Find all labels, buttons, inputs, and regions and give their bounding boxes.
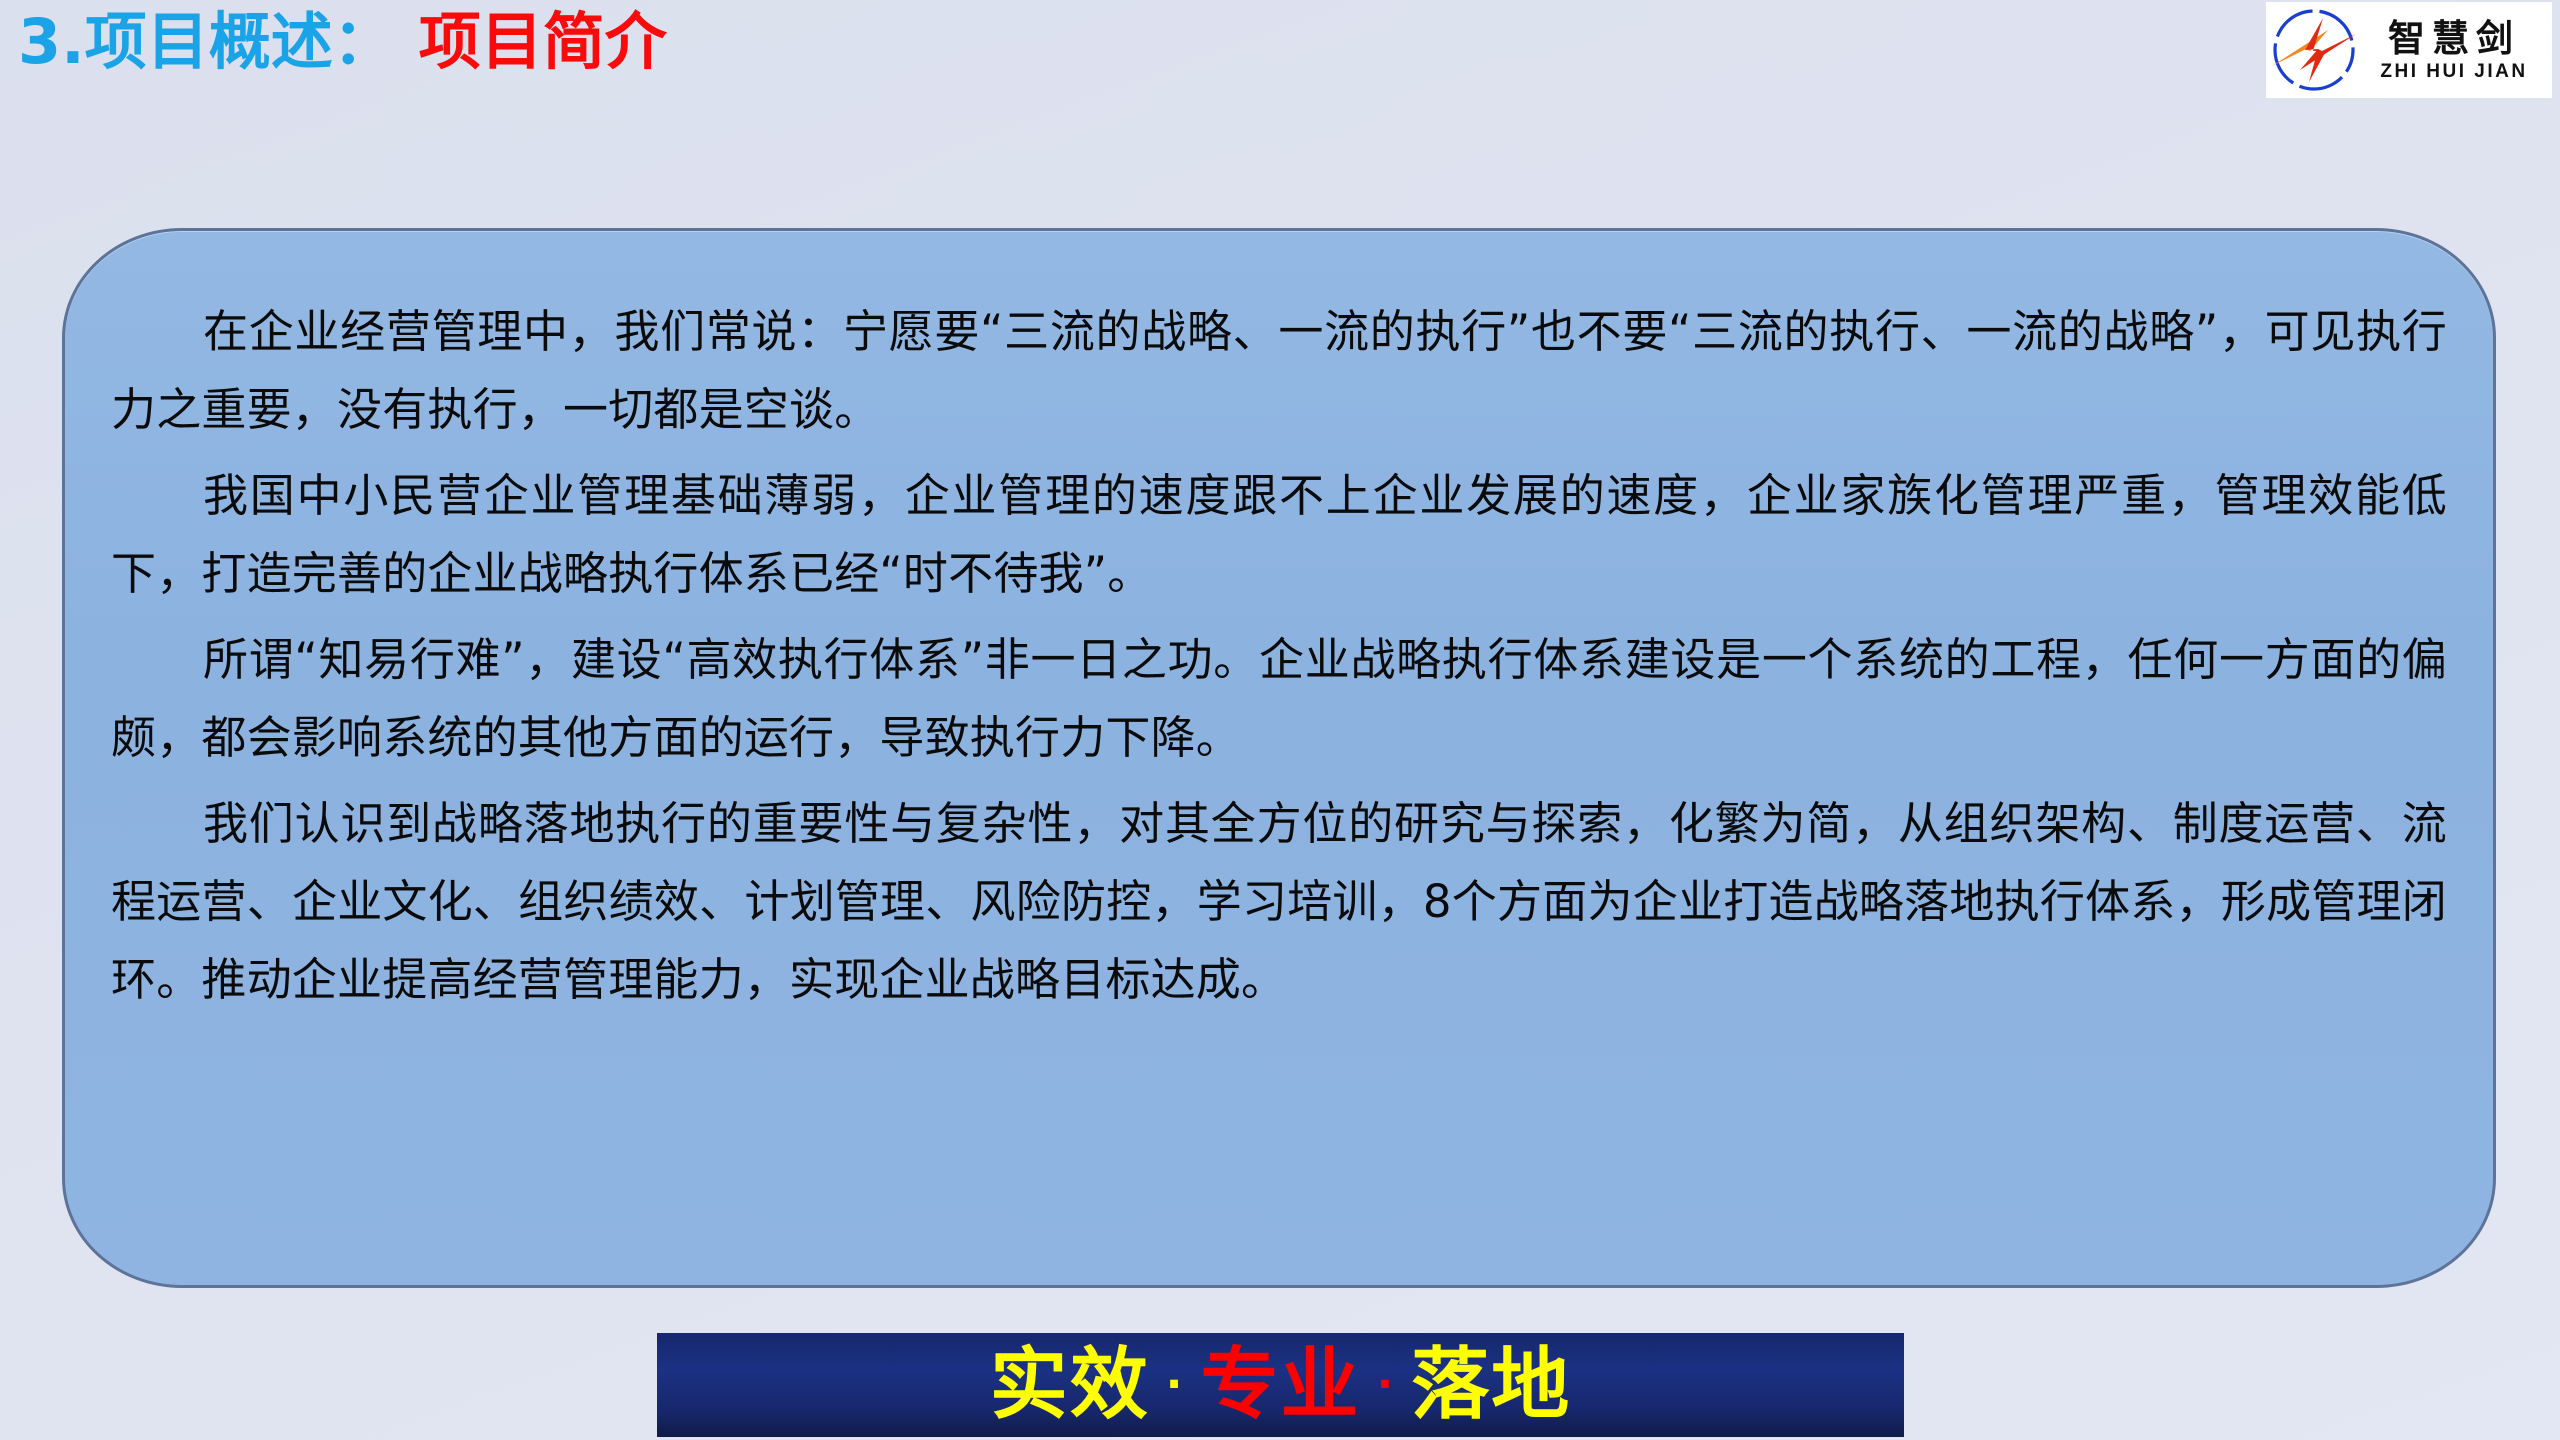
logo-brand-en: ZHI HUI JIAN xyxy=(2380,62,2527,81)
footer-banner: 实效 · 专业 · 落地 xyxy=(657,1333,1904,1437)
footer-banner-text: 实效 · 专业 · 落地 xyxy=(990,1346,1571,1424)
slide-root: 3.项目概述：项目简介 智慧剑 ZHI HUI JIAN 在企业经营管理中，我们… xyxy=(0,0,2560,1440)
logo-wordmark: 智慧剑 ZHI HUI JIAN xyxy=(2362,20,2552,81)
footer-separator-dot-icon: · xyxy=(1377,1363,1396,1407)
logo-brand-cn: 智慧剑 xyxy=(2388,20,2520,57)
content-paragraph: 我国中小民营企业管理基础薄弱，企业管理的速度跟不上企业发展的速度，企业家族化管理… xyxy=(111,457,2447,613)
page-title-sub: 项目简介 xyxy=(419,5,667,78)
company-logo: 智慧剑 ZHI HUI JIAN xyxy=(2266,2,2552,98)
content-paragraph: 所谓“知易行难”，建设“高效执行体系”非一日之功。企业战略执行体系建设是一个系统… xyxy=(111,621,2447,777)
content-paragraph: 在企业经营管理中，我们常说：宁愿要“三流的战略、一流的执行”也不要“三流的执行、… xyxy=(111,293,2447,449)
page-title: 3.项目概述：项目简介 xyxy=(18,8,667,76)
content-card: 在企业经营管理中，我们常说：宁愿要“三流的战略、一流的执行”也不要“三流的执行、… xyxy=(62,228,2496,1288)
footer-separator-dot-icon: · xyxy=(1166,1363,1185,1407)
footer-segment-zhuanye: 专业 xyxy=(1200,1346,1360,1424)
content-body: 在企业经营管理中，我们常说：宁愿要“三流的战略、一流的执行”也不要“三流的执行、… xyxy=(111,293,2447,1019)
footer-segment-shixiao: 实效 xyxy=(990,1346,1150,1424)
footer-segment-luodi: 落地 xyxy=(1411,1346,1571,1424)
content-paragraph: 我们认识到战略落地执行的重要性与复杂性，对其全方位的研究与探索，化繁为简，从组织… xyxy=(111,785,2447,1019)
lightning-bolt-in-circle-icon xyxy=(2266,4,2362,96)
page-title-main: 3.项目概述： xyxy=(18,5,395,78)
